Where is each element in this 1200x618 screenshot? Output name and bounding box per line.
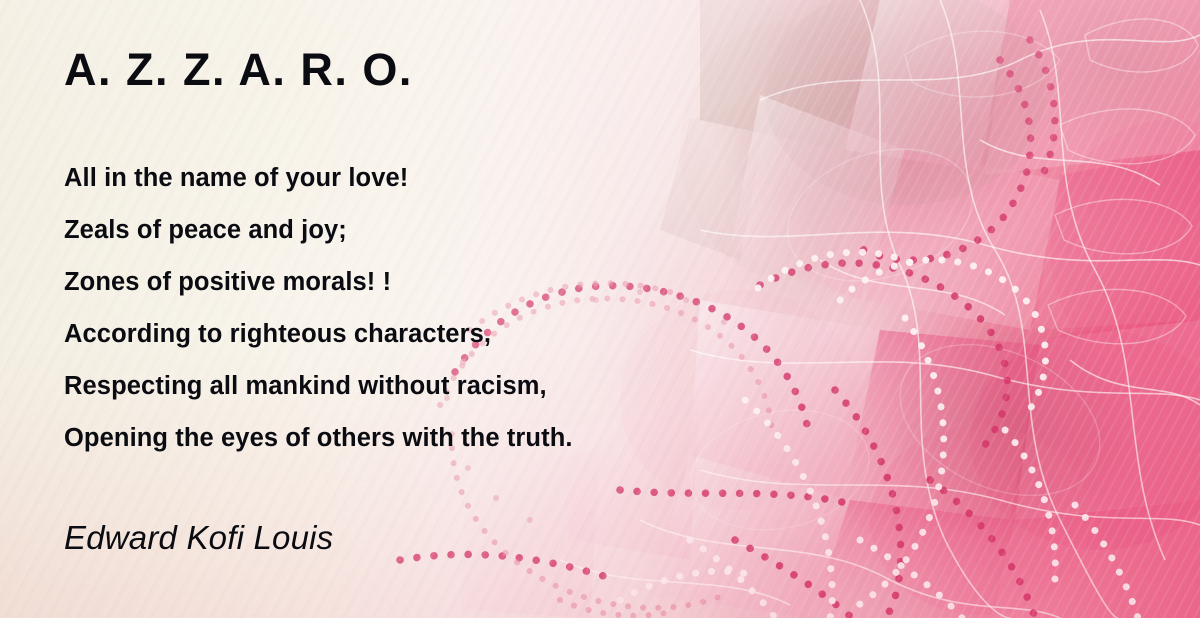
poem-body: All in the name of your love! Zeals of p… <box>64 152 964 464</box>
poem-line: All in the name of your love! <box>64 152 964 204</box>
poem-line: Respecting all mankind without racism, <box>64 360 964 412</box>
poem-line: According to righteous characters, <box>64 308 964 360</box>
poem-content: A. Z. Z. A. R. O. All in the name of you… <box>0 0 1200 618</box>
poem-title: A. Z. Z. A. R. O. <box>64 44 413 96</box>
poem-line: Opening the eyes of others with the trut… <box>64 412 964 464</box>
poem-line: Zeals of peace and joy; <box>64 204 964 256</box>
poem-image-card: A. Z. Z. A. R. O. All in the name of you… <box>0 0 1200 618</box>
poem-line: Zones of positive morals! ! <box>64 256 964 308</box>
poem-author: Edward Kofi Louis <box>64 519 333 557</box>
